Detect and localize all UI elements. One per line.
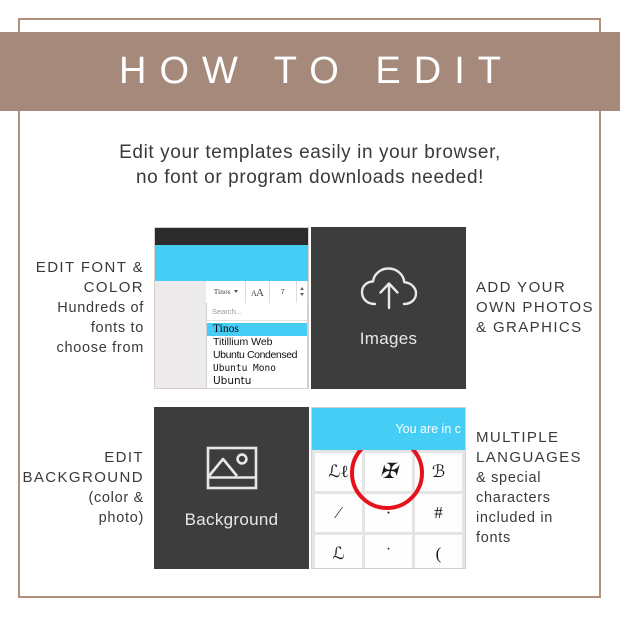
caption-head-line-1: EDIT (18, 448, 144, 468)
subtitle: Edit your templates easily in your brows… (28, 140, 592, 190)
caption-sub-line-3: choose from (18, 338, 144, 358)
subtitle-line-2: no font or program downloads needed! (28, 165, 592, 190)
background-card-label: Background (185, 510, 279, 530)
app-blue-banner (155, 245, 308, 281)
images-card-label: Images (360, 329, 418, 349)
caption-head-line-1: ADD YOUR (476, 278, 602, 298)
font-family-value: Tinos (214, 287, 231, 296)
glyph-cell[interactable]: ( (415, 535, 462, 568)
glyph-cell[interactable]: ⁄ (315, 494, 362, 532)
font-option-ubuntu-mono[interactable]: Ubuntu Mono (207, 362, 307, 375)
character-map-screenshot: You are in c ℒℓ ✠ ℬ ⁄ · # ℒ ˙ ( (311, 407, 466, 569)
glyph-cell[interactable]: # (415, 494, 462, 532)
character-map-banner: You are in c (312, 408, 465, 450)
caption-head-line-2: BACKGROUND (18, 468, 144, 488)
svg-text:A: A (256, 287, 264, 297)
poster-root: HOW TO EDIT Edit your templates easily i… (0, 0, 620, 620)
glyph-cell[interactable]: ℒ (315, 535, 362, 568)
caption-head-line-1: MULTIPLE (476, 428, 602, 448)
cloud-upload-icon (360, 266, 418, 315)
caption-sub-line-2: fonts to (18, 318, 144, 338)
font-picker-screenshot: Tinos A A 7 (154, 227, 309, 389)
font-size-icon[interactable]: A A (246, 281, 269, 303)
caption-sub-line-1: Hundreds of (18, 298, 144, 318)
font-size-stepper[interactable] (297, 281, 308, 303)
caption-head-line-3: & GRAPHICS (476, 318, 602, 338)
font-option-list: Tinos Titillium Web Ubuntu Condensed Ubu… (207, 321, 307, 388)
caption-sub-line-1: & special (476, 468, 602, 488)
subtitle-line-1: Edit your templates easily in your brows… (28, 140, 592, 165)
header-band: HOW TO EDIT (0, 32, 620, 111)
font-option-ubuntu[interactable]: Ubuntu (207, 375, 307, 388)
font-dropdown-panel: Search... Tinos Titillium Web Ubuntu Con… (206, 303, 308, 389)
page-title: HOW TO EDIT (106, 50, 514, 93)
font-option-tinos[interactable]: Tinos (207, 323, 307, 336)
caption-head-line-1: EDIT FONT & (18, 258, 144, 278)
caption-head-line-2: LANGUAGES (476, 448, 602, 468)
caption-add-photos: ADD YOUR OWN PHOTOS & GRAPHICS (472, 278, 606, 338)
section-edit-font-color: EDIT FONT & COLOR Hundreds of fonts to c… (14, 225, 309, 390)
caption-sub-line-3: included in (476, 508, 602, 528)
caption-sub-line-1: (color & (18, 488, 144, 508)
picture-icon (206, 445, 258, 496)
section-add-photos: Images ADD YOUR OWN PHOTOS & GRAPHICS (311, 225, 606, 390)
font-family-dropdown[interactable]: Tinos (206, 281, 246, 303)
section-edit-background: EDIT BACKGROUND (color & photo) Backgrou… (14, 405, 309, 570)
font-search-input[interactable]: Search... (207, 303, 307, 321)
caption-sub-line-2: characters (476, 488, 602, 508)
background-card[interactable]: Background (154, 407, 309, 569)
font-option-ubuntu-condensed[interactable]: Ubuntu Condensed (207, 349, 307, 362)
font-toolbar: Tinos A A 7 (206, 281, 308, 304)
glyph-cell[interactable]: ℬ (415, 453, 462, 491)
font-option-titillium-web[interactable]: Titillium Web (207, 336, 307, 349)
section-multiple-languages: You are in c ℒℓ ✠ ℬ ⁄ · # ℒ ˙ ( MULTIPLE… (311, 405, 606, 570)
caption-head-line-2: OWN PHOTOS (476, 298, 602, 318)
images-card[interactable]: Images (311, 227, 466, 389)
caption-edit-background: EDIT BACKGROUND (color & photo) (14, 448, 148, 528)
caption-sub-line-2: photo) (18, 508, 144, 528)
font-picker-body: Tinos A A 7 (155, 281, 308, 389)
caption-sub-line-4: fonts (476, 528, 602, 548)
glyph-grid: ℒℓ ✠ ℬ ⁄ · # ℒ ˙ ( (312, 450, 465, 568)
character-map-banner-text: You are in c (395, 422, 461, 436)
app-titlebar (155, 228, 308, 245)
font-size-input[interactable]: 7 (270, 281, 297, 303)
glyph-cell[interactable]: · (365, 494, 412, 532)
stepper-up-icon[interactable] (300, 287, 304, 290)
glyph-cell[interactable]: ˙ (365, 535, 412, 568)
chevron-down-icon (234, 290, 238, 293)
caption-multiple-languages: MULTIPLE LANGUAGES & special characters … (472, 428, 606, 548)
caption-head-line-2: COLOR (18, 278, 144, 298)
glyph-cell-highlighted[interactable]: ✠ (365, 453, 412, 491)
glyph-cell[interactable]: ℒℓ (315, 453, 362, 491)
stepper-down-icon[interactable] (300, 293, 304, 296)
caption-edit-font-color: EDIT FONT & COLOR Hundreds of fonts to c… (14, 258, 148, 358)
